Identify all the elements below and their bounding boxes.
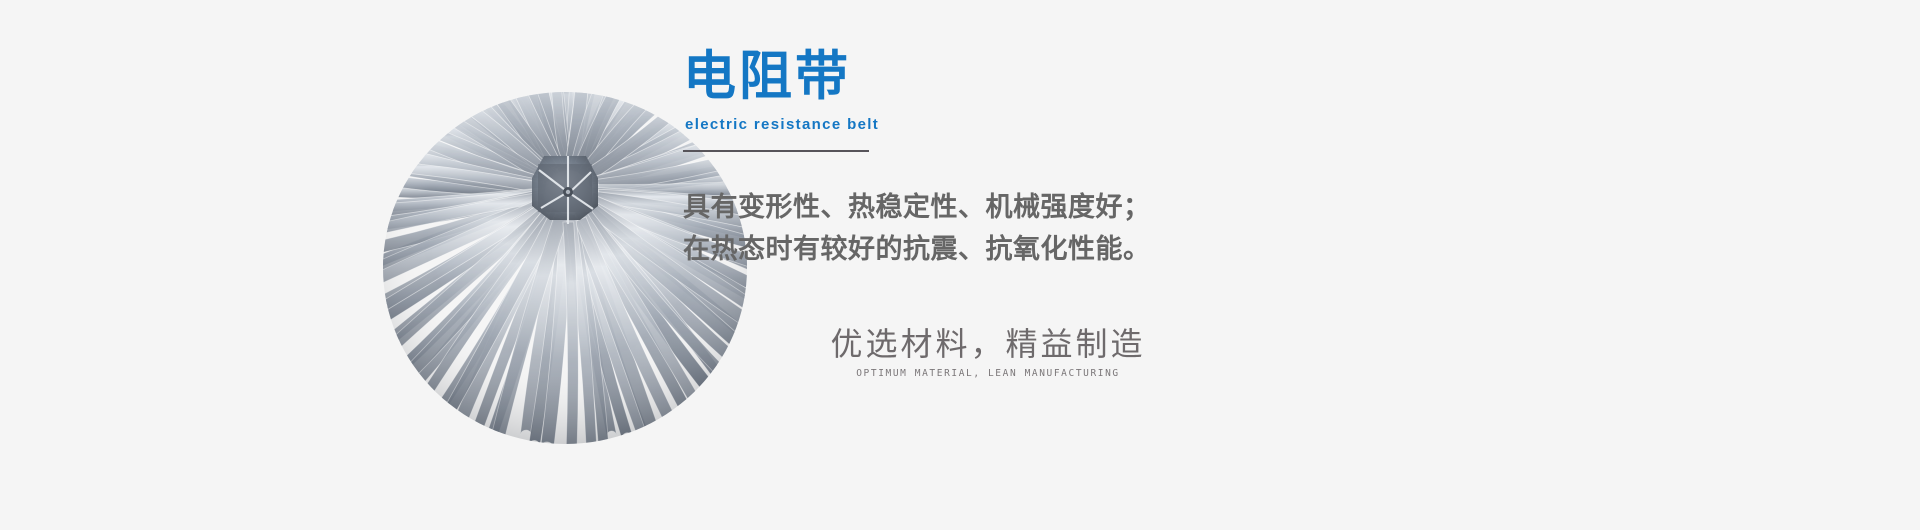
product-description: 具有变形性、热稳定性、机械强度好； 在热态时有较好的抗震、抗氧化性能。 xyxy=(683,186,1303,270)
belt-strip xyxy=(563,222,578,468)
banner-content: 电阻带 electric resistance belt 具有变形性、热稳定性、… xyxy=(683,0,1483,530)
page-title: 电阻带 xyxy=(683,46,851,109)
slogan-block: 优选材料，精益制造 OPTIMUM MATERIAL, LEAN MANUFAC… xyxy=(778,322,1198,379)
description-line-1: 具有变形性、热稳定性、机械强度好； xyxy=(683,186,1303,228)
slogan-zh: 优选材料，精益制造 xyxy=(778,322,1198,366)
description-line-2: 在热态时有较好的抗震、抗氧化性能。 xyxy=(683,228,1303,270)
product-banner: 电阻带 electric resistance belt 具有变形性、热稳定性、… xyxy=(0,0,1920,530)
page-subtitle: electric resistance belt xyxy=(685,116,879,133)
slogan-en: OPTIMUM MATERIAL, LEAN MANUFACTURING xyxy=(778,368,1198,379)
title-divider xyxy=(683,150,869,152)
